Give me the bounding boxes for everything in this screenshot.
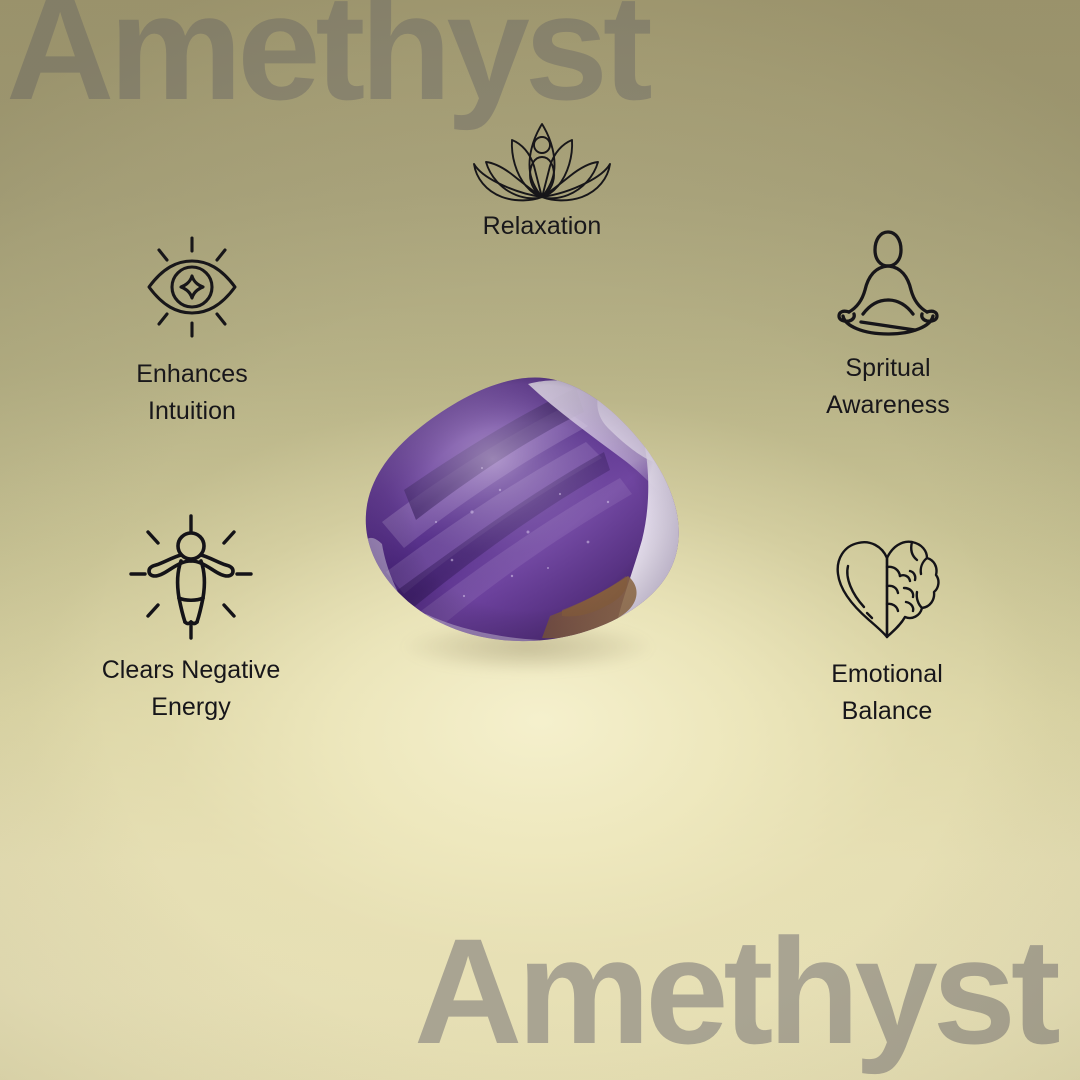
- radiant-person-icon: [125, 512, 257, 642]
- page-title-top: Amethyst: [6, 0, 648, 122]
- feature-clears-negative-energy: Clears Negative Energy: [68, 512, 314, 726]
- feature-relaxation: Relaxation: [420, 118, 664, 245]
- feature-label-relaxation: Relaxation: [483, 208, 602, 245]
- feature-emotional-balance: Emotional Balance: [764, 534, 1010, 730]
- feature-label-emotional: Emotional Balance: [831, 656, 943, 730]
- page-title-bottom: Amethyst: [414, 916, 1056, 1066]
- infographic-canvas: Amethyst: [0, 0, 1080, 1080]
- heart-brain-icon: [826, 534, 948, 646]
- meditating-person-icon: [825, 222, 951, 340]
- third-eye-icon: [129, 228, 255, 346]
- feature-spiritual: Spritual Awareness: [766, 222, 1010, 424]
- amethyst-stone-image: [352, 372, 704, 662]
- feature-label-intuition: Enhances Intuition: [136, 356, 248, 430]
- feature-label-clears: Clears Negative Energy: [102, 652, 281, 726]
- feature-label-spiritual: Spritual Awareness: [826, 350, 950, 424]
- feature-intuition: Enhances Intuition: [70, 228, 314, 430]
- lotus-meditation-icon: [468, 118, 616, 202]
